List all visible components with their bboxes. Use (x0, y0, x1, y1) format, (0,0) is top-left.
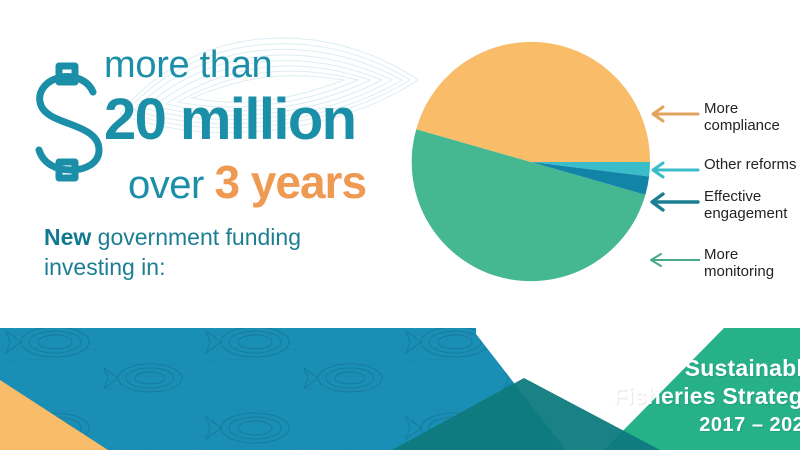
headline-duration-row: over 3 years (128, 155, 366, 209)
headline-over-word: over (128, 163, 204, 207)
dollar-sign-icon (26, 62, 112, 182)
legend-label-effective-engagement: Effective engagement (700, 188, 787, 222)
headline-more-than: more than (104, 44, 272, 87)
pie-legend: More compliance Other reforms (648, 28, 800, 298)
headline-block: more than 20 million over 3 years New go… (0, 0, 410, 300)
legend-item-more-compliance: More compliance (648, 100, 800, 134)
headline-years: 3 years (214, 156, 366, 208)
subheadline: New government funding investing in: (44, 222, 374, 282)
subheadline-strong: New (44, 224, 91, 250)
legend-item-effective-engagement: Effective engagement (648, 188, 800, 222)
arrow-left-icon (648, 250, 700, 270)
top-content-panel: more than 20 million over 3 years New go… (0, 0, 800, 318)
legend-label-more-monitoring: More monitoring (700, 246, 774, 280)
pie-chart (404, 28, 664, 298)
legend-label-more-compliance: More compliance (700, 100, 780, 134)
infographic-page: more than 20 million over 3 years New go… (0, 0, 800, 450)
legend-label-other-reforms: Other reforms (700, 156, 797, 173)
legend-item-other-reforms: Other reforms (648, 156, 800, 180)
headline-amount: 20 million (104, 86, 356, 153)
arrow-left-icon (648, 192, 700, 212)
arrow-left-icon (648, 160, 700, 180)
arrow-left-icon (648, 104, 700, 124)
bottom-banner: Sustainable Fisheries Strategy 2017 – 20… (0, 318, 800, 450)
legend-item-more-monitoring: More monitoring (648, 246, 800, 280)
banner-years: 2017 – 2027 (486, 414, 800, 437)
banner-title: Sustainable Fisheries Strategy (486, 354, 800, 410)
